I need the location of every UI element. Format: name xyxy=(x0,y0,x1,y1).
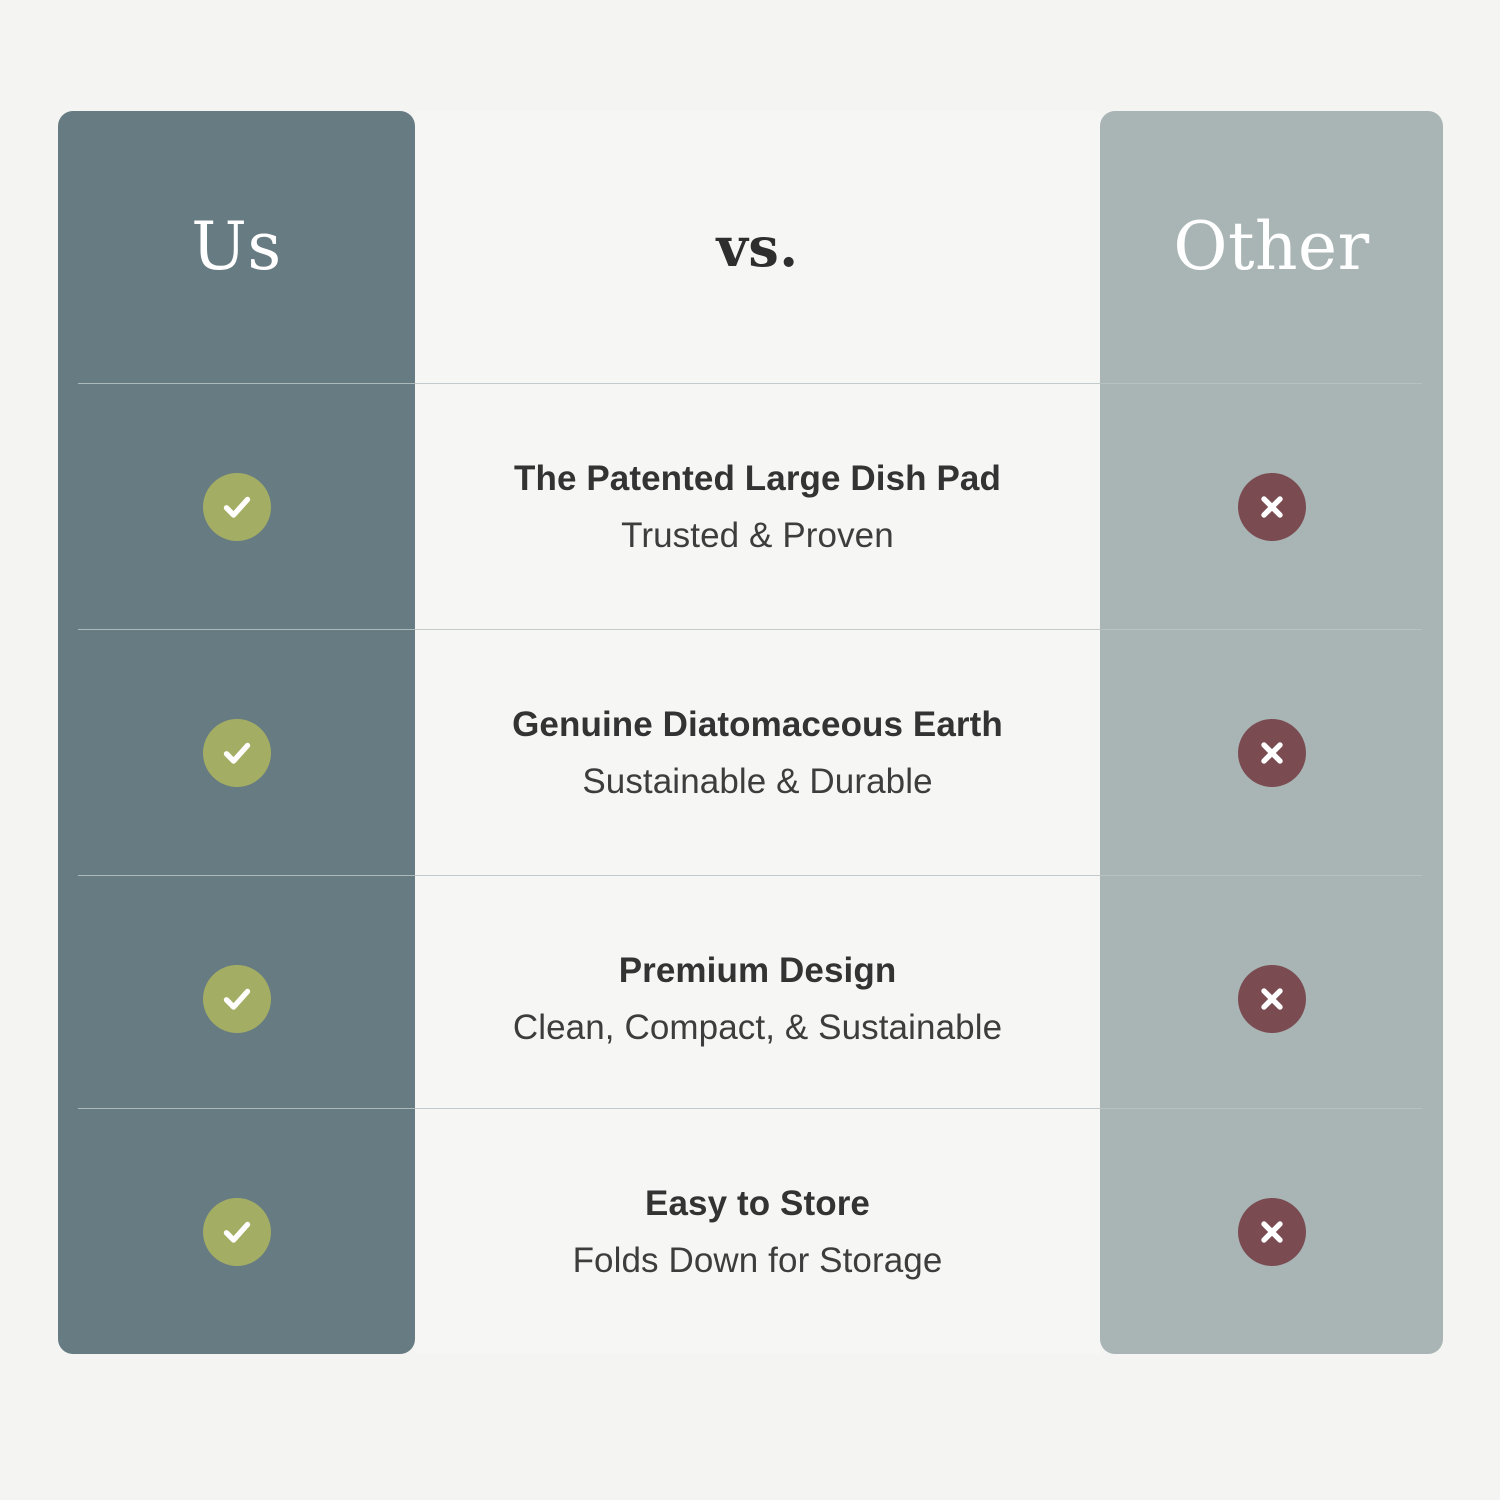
table-header-row: Us vs. Other xyxy=(0,111,1500,383)
cross-icon xyxy=(1238,719,1306,787)
cross-icon xyxy=(1238,1198,1306,1266)
row-other-mark xyxy=(1100,1109,1443,1355)
check-icon xyxy=(203,719,271,787)
row-title: Easy to Store xyxy=(645,1182,870,1226)
row-other-mark xyxy=(1100,876,1443,1122)
row-other-mark xyxy=(1100,630,1443,876)
row-description: The Patented Large Dish Pad Trusted & Pr… xyxy=(415,384,1100,630)
row-us-mark xyxy=(58,384,415,630)
row-us-mark xyxy=(58,876,415,1122)
header-cell-other: Other xyxy=(1100,111,1443,383)
row-other-mark xyxy=(1100,384,1443,630)
row-us-mark xyxy=(58,630,415,876)
table-row: The Patented Large Dish Pad Trusted & Pr… xyxy=(0,384,1500,630)
header-cell-us: Us xyxy=(58,111,415,383)
row-description: Premium Design Clean, Compact, & Sustain… xyxy=(415,876,1100,1122)
comparison-table: Us vs. Other The Patented Large Dish Pad… xyxy=(0,0,1500,1500)
header-label-us: Us xyxy=(191,214,282,280)
row-subtitle: Sustainable & Durable xyxy=(582,760,932,804)
table-row: Easy to Store Folds Down for Storage xyxy=(0,1109,1500,1355)
row-subtitle: Trusted & Proven xyxy=(621,514,894,558)
cross-icon xyxy=(1238,965,1306,1033)
header-label-vs: vs. xyxy=(716,220,798,274)
row-title: The Patented Large Dish Pad xyxy=(514,457,1001,501)
cross-icon xyxy=(1238,473,1306,541)
header-label-other: Other xyxy=(1173,214,1369,280)
row-title: Premium Design xyxy=(619,949,897,993)
table-row: Premium Design Clean, Compact, & Sustain… xyxy=(0,876,1500,1122)
table-row: Genuine Diatomaceous Earth Sustainable &… xyxy=(0,630,1500,876)
row-title: Genuine Diatomaceous Earth xyxy=(512,703,1003,747)
check-icon xyxy=(203,1198,271,1266)
row-description: Easy to Store Folds Down for Storage xyxy=(415,1109,1100,1355)
row-description: Genuine Diatomaceous Earth Sustainable &… xyxy=(415,630,1100,876)
row-subtitle: Clean, Compact, & Sustainable xyxy=(513,1006,1002,1050)
row-subtitle: Folds Down for Storage xyxy=(573,1239,943,1283)
row-us-mark xyxy=(58,1109,415,1355)
check-icon xyxy=(203,473,271,541)
header-cell-vs: vs. xyxy=(415,111,1100,383)
check-icon xyxy=(203,965,271,1033)
